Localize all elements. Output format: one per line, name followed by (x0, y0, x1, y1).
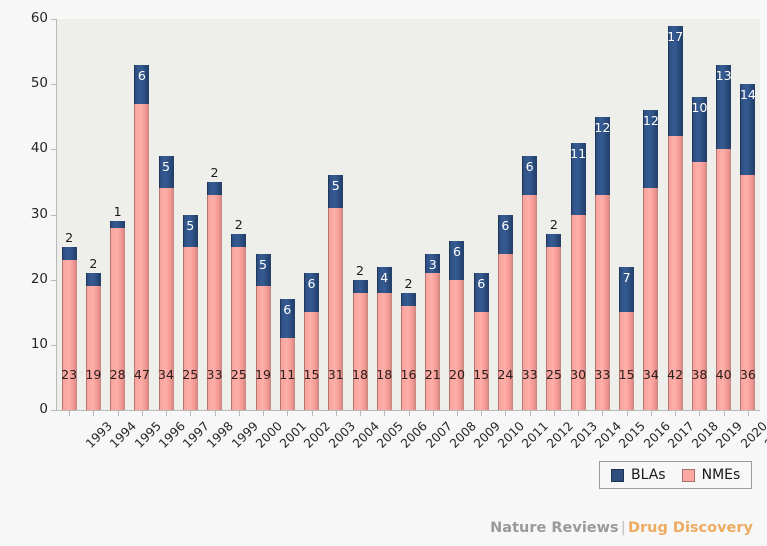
bar-value-label-bla: 2 (235, 219, 243, 232)
bar-value-label-nme: 33 (207, 369, 223, 382)
bar-segment-bla[interactable]: 1 (110, 221, 125, 228)
bar-stack[interactable]: 156 (474, 273, 489, 410)
bar-value-label-bla: 3 (429, 259, 437, 272)
x-tick-label: 2018 (689, 419, 721, 451)
bar-stack[interactable]: 156 (304, 273, 319, 410)
bar-stack[interactable]: 182 (353, 280, 368, 410)
bar-value-label-bla: 13 (716, 70, 732, 83)
bar-segment-nme[interactable]: 25 (183, 247, 198, 410)
bar-value-label-nme: 19 (85, 369, 101, 382)
bar-value-label-nme: 23 (61, 369, 77, 382)
bar-value-label-nme: 34 (643, 369, 659, 382)
bar-segment-nme[interactable]: 31 (328, 208, 343, 410)
bar-segment-bla[interactable]: 6 (304, 273, 319, 312)
x-tick-label: 2012 (544, 419, 576, 451)
bar-value-label-nme: 24 (497, 369, 513, 382)
bar-value-label-nme: 18 (352, 369, 368, 382)
bar-value-label-bla: 5 (186, 220, 194, 233)
bar-segment-nme[interactable]: 28 (110, 228, 125, 410)
bar-segment-bla[interactable]: 12 (595, 117, 610, 195)
bar-value-label-nme: 20 (449, 369, 465, 382)
x-tick-label: 2006 (398, 419, 430, 451)
bar-value-label-nme: 18 (376, 369, 392, 382)
bar-stack[interactable]: 315 (328, 175, 343, 410)
bar-value-label-nme: 42 (667, 369, 683, 382)
x-axis-tick (481, 411, 482, 416)
x-axis-tick (166, 411, 167, 416)
y-tick-mark (51, 149, 57, 150)
bar-segment-bla[interactable]: 13 (716, 65, 731, 150)
bar-segment-bla[interactable]: 12 (643, 110, 658, 188)
y-tick-mark (51, 345, 57, 346)
bar-segment-nme[interactable]: 40 (716, 149, 731, 410)
y-tick-mark (51, 410, 57, 411)
bar-segment-nme[interactable]: 38 (692, 162, 707, 410)
bar-segment-nme[interactable]: 20 (449, 280, 464, 410)
bar-value-label-bla: 11 (570, 148, 586, 161)
y-axis-tick: 50 (0, 84, 57, 85)
bar-stack[interactable]: 246 (498, 215, 513, 411)
y-tick-label: 30 (31, 206, 48, 222)
bar-stack[interactable]: 252 (546, 234, 561, 410)
bar-stack[interactable]: 213 (425, 254, 440, 410)
chart-legend[interactable]: BLAs NMEs (599, 461, 752, 489)
bar-stack[interactable]: 336 (522, 156, 537, 410)
bar-value-label-bla: 2 (65, 232, 73, 245)
x-tick-label: 2020 (738, 419, 767, 451)
bar-value-label-bla: 4 (380, 272, 388, 285)
x-axis-tick (409, 411, 410, 416)
bar-segment-bla[interactable]: 4 (377, 267, 392, 293)
bar-value-label-bla: 2 (211, 167, 219, 180)
bar-stack[interactable]: 255 (183, 215, 198, 411)
x-axis-tick (215, 411, 216, 416)
x-axis-tick (312, 411, 313, 416)
x-axis-tick (69, 411, 70, 416)
bar-stack[interactable]: 192 (86, 273, 101, 410)
bar-segment-nme[interactable]: 24 (498, 254, 513, 410)
bar-value-label-bla: 12 (594, 122, 610, 135)
bar-value-label-nme: 15 (473, 369, 489, 382)
bar-value-label-bla: 10 (691, 102, 707, 115)
bar-stack[interactable]: 162 (401, 293, 416, 410)
y-tick-label: 20 (31, 271, 48, 287)
legend-swatch-blas (611, 469, 624, 482)
bar-value-label-nme: 38 (691, 369, 707, 382)
x-tick-label: 2003 (326, 419, 358, 451)
x-tick-label: 2016 (641, 419, 673, 451)
bar-segment-bla[interactable]: 2 (231, 234, 246, 247)
x-axis-tick (118, 411, 119, 416)
bar-segment-bla[interactable]: 14 (740, 84, 755, 175)
x-tick-label: 2004 (350, 419, 382, 451)
bar-segment-nme[interactable]: 15 (619, 312, 634, 410)
x-tick-label: 1999 (229, 419, 261, 451)
bar-segment-nme[interactable]: 33 (207, 195, 222, 410)
x-axis-tick (433, 411, 434, 416)
bar-stack[interactable]: 4217 (668, 26, 683, 410)
x-axis-tick (748, 411, 749, 416)
bar-value-label-bla: 2 (356, 265, 364, 278)
bar-stack[interactable]: 232 (62, 247, 77, 410)
bar-segment-nme[interactable]: 25 (546, 247, 561, 410)
bar-segment-bla[interactable]: 11 (571, 143, 586, 215)
x-tick-label: 2014 (592, 419, 624, 451)
bar-segment-bla[interactable]: 10 (692, 97, 707, 162)
bar-segment-nme[interactable]: 36 (740, 175, 755, 410)
bar-value-label-bla: 5 (259, 259, 267, 272)
x-axis-tick (239, 411, 240, 416)
bar-segment-bla[interactable]: 6 (522, 156, 537, 195)
bar-segment-bla[interactable]: 5 (183, 215, 198, 248)
x-tick-label: 2005 (374, 419, 406, 451)
bar-stack[interactable]: 345 (159, 156, 174, 410)
bar-value-label-nme: 33 (594, 369, 610, 382)
bar-segment-bla[interactable]: 17 (668, 26, 683, 137)
x-axis-tick (287, 411, 288, 416)
credit-brand: Nature Reviews (490, 520, 619, 536)
x-axis-tick (530, 411, 531, 416)
bar-value-label-nme: 25 (182, 369, 198, 382)
bar-segment-nme[interactable]: 15 (304, 312, 319, 410)
bar-value-label-bla: 6 (526, 161, 534, 174)
y-axis-tick: 40 (0, 149, 57, 150)
y-axis-tick: 60 (0, 19, 57, 20)
bar-value-label-nme: 16 (400, 369, 416, 382)
x-tick-label: 2008 (447, 419, 479, 451)
x-tick-label: 2000 (253, 419, 285, 451)
bar-segment-bla[interactable]: 2 (353, 280, 368, 293)
bar-segment-nme[interactable]: 18 (353, 293, 368, 410)
bar-stack[interactable]: 184 (377, 267, 392, 410)
bar-stack[interactable]: 157 (619, 267, 634, 410)
y-tick-mark (51, 19, 57, 20)
x-axis-tick (602, 411, 603, 416)
x-tick-label: 2013 (568, 419, 600, 451)
bar-segment-bla[interactable]: 3 (425, 254, 440, 274)
bar-value-label-bla: 5 (332, 180, 340, 193)
bar-segment-bla[interactable]: 6 (280, 299, 295, 338)
bar-value-label-bla: 17 (667, 31, 683, 44)
x-tick-label: 2002 (301, 419, 333, 451)
bar-segment-bla[interactable]: 7 (619, 267, 634, 313)
bar-segment-nme[interactable]: 33 (595, 195, 610, 410)
x-axis-tick (724, 411, 725, 416)
bar-value-label-bla: 6 (283, 304, 291, 317)
bar-value-label-bla: 5 (162, 161, 170, 174)
x-axis-tick (675, 411, 676, 416)
bar-value-label-nme: 28 (110, 369, 126, 382)
x-axis-tick (627, 411, 628, 416)
bar-segment-nme[interactable]: 33 (522, 195, 537, 410)
bar-segment-nme[interactable]: 19 (256, 286, 271, 410)
bar-segment-bla[interactable]: 6 (134, 65, 149, 104)
bar-segment-bla[interactable]: 5 (256, 254, 271, 287)
legend-entry-nmes[interactable]: NMEs (682, 467, 741, 483)
bar-value-label-nme: 31 (328, 369, 344, 382)
credit-journal: Drug Discovery (628, 520, 753, 536)
bar-value-label-bla: 6 (138, 70, 146, 83)
bar-stack[interactable]: 3011 (571, 143, 586, 410)
bar-value-label-nme: 40 (716, 369, 732, 382)
bar-segment-bla[interactable]: 2 (86, 273, 101, 286)
bar-value-label-bla: 12 (643, 115, 659, 128)
bar-value-label-bla: 1 (114, 206, 122, 219)
y-tick-label: 0 (39, 401, 48, 417)
bar-segment-nme[interactable]: 15 (474, 312, 489, 410)
bar-stack[interactable]: 3810 (692, 97, 707, 410)
bar-stack[interactable]: 476 (134, 65, 149, 410)
bar-stack[interactable]: 3614 (740, 84, 755, 410)
bar-value-label-bla: 2 (89, 258, 97, 271)
x-axis-tick (190, 411, 191, 416)
x-axis-tick (142, 411, 143, 416)
x-axis-tick (336, 411, 337, 416)
bar-segment-bla[interactable]: 2 (62, 247, 77, 260)
x-axis-tick (554, 411, 555, 416)
bar-value-label-nme: 36 (740, 369, 756, 382)
y-axis-tick: 10 (0, 345, 57, 346)
y-tick-mark (51, 84, 57, 85)
x-axis-tick (360, 411, 361, 416)
bar-segment-bla[interactable]: 5 (328, 175, 343, 208)
legend-label-nmes: NMEs (702, 467, 741, 483)
x-tick-label: 1997 (180, 419, 212, 451)
bar-value-label-nme: 30 (570, 369, 586, 382)
bar-segment-bla[interactable]: 5 (159, 156, 174, 189)
bar-segment-nme[interactable]: 25 (231, 247, 246, 410)
x-axis-tick (457, 411, 458, 416)
x-tick-label: 1994 (107, 419, 139, 451)
x-axis-tick (505, 411, 506, 416)
bar-stack[interactable]: 4013 (716, 65, 731, 410)
bar-value-label-nme: 33 (522, 369, 538, 382)
bar-stack[interactable]: 3312 (595, 117, 610, 410)
y-tick-label: 60 (31, 10, 48, 26)
bar-value-label-bla: 2 (550, 219, 558, 232)
bar-segment-nme[interactable]: 11 (280, 338, 295, 410)
bar-segment-bla[interactable]: 6 (449, 241, 464, 280)
bar-stack[interactable]: 332 (207, 182, 222, 410)
bar-segment-bla[interactable]: 2 (207, 182, 222, 195)
bar-stack[interactable]: 116 (280, 299, 295, 410)
x-tick-label: 2009 (471, 419, 503, 451)
publication-credit: Nature Reviews|Drug Discovery (490, 520, 753, 536)
bar-stack[interactable]: 3412 (643, 110, 658, 410)
bar-stack[interactable]: 252 (231, 234, 246, 410)
legend-entry-blas[interactable]: BLAs (611, 467, 666, 483)
bar-value-label-bla: 6 (477, 278, 485, 291)
bar-value-label-nme: 21 (425, 369, 441, 382)
bar-value-label-bla: 6 (453, 246, 461, 259)
bar-stack[interactable]: 206 (449, 241, 464, 410)
bar-value-label-bla: 7 (623, 272, 631, 285)
bar-value-label-nme: 47 (134, 369, 150, 382)
x-axis-tick (93, 411, 94, 416)
bar-stack[interactable]: 281 (110, 221, 125, 410)
bar-value-label-nme: 15 (304, 369, 320, 382)
y-tick-label: 50 (31, 75, 48, 91)
bar-segment-nme[interactable]: 47 (134, 104, 149, 410)
x-tick-label: 2001 (277, 419, 309, 451)
bar-segment-bla[interactable]: 2 (546, 234, 561, 247)
bar-segment-nme[interactable]: 23 (62, 260, 77, 410)
bar-stack[interactable]: 195 (256, 254, 271, 410)
y-axis-tick: 30 (0, 215, 57, 216)
bar-segment-nme[interactable]: 19 (86, 286, 101, 410)
x-tick-label: 1996 (156, 419, 188, 451)
bar-segment-nme[interactable]: 18 (377, 293, 392, 410)
bar-segment-bla[interactable]: 6 (474, 273, 489, 312)
bar-segment-bla[interactable]: 6 (498, 215, 513, 254)
x-tick-label: 2007 (423, 419, 455, 451)
legend-swatch-nmes (682, 469, 695, 482)
bar-value-label-nme: 11 (279, 369, 295, 382)
x-tick-label: 2015 (617, 419, 649, 451)
bar-value-label-nme: 15 (619, 369, 635, 382)
x-tick-label: 1998 (204, 419, 236, 451)
x-axis-tick (578, 411, 579, 416)
x-tick-label: 1995 (132, 419, 164, 451)
bar-value-label-nme: 19 (255, 369, 271, 382)
bar-value-label-nme: 25 (231, 369, 247, 382)
y-tick-label: 10 (31, 336, 48, 352)
y-axis-tick: 20 (0, 280, 57, 281)
y-axis-tick: 0 (0, 410, 57, 411)
x-axis-tick (651, 411, 652, 416)
bar-segment-nme[interactable]: 16 (401, 306, 416, 410)
bar-value-label-nme: 34 (158, 369, 174, 382)
bar-segment-nme[interactable]: 34 (159, 188, 174, 410)
bar-segment-nme[interactable]: 34 (643, 188, 658, 410)
x-axis-tick (263, 411, 264, 416)
bar-value-label-bla: 2 (404, 278, 412, 291)
x-tick-label: 1993 (83, 419, 115, 451)
x-tick-label: 2010 (495, 419, 527, 451)
y-tick-label: 40 (31, 140, 48, 156)
bar-segment-nme[interactable]: 21 (425, 273, 440, 410)
y-tick-mark (51, 215, 57, 216)
x-tick-label: 2019 (713, 419, 745, 451)
credit-separator: | (619, 520, 628, 536)
legend-label-blas: BLAs (631, 467, 666, 483)
x-tick-label: 2017 (665, 419, 697, 451)
x-axis-tick (699, 411, 700, 416)
bar-value-label-bla: 6 (308, 278, 316, 291)
bar-segment-bla[interactable]: 2 (401, 293, 416, 306)
y-tick-mark (51, 280, 57, 281)
chart-figure: Number of drugs approved 0102030405060 1… (0, 0, 767, 546)
x-tick-label: 2011 (520, 419, 552, 451)
bar-value-label-bla: 6 (501, 220, 509, 233)
bar-value-label-bla: 14 (740, 89, 756, 102)
bar-value-label-nme: 25 (546, 369, 562, 382)
bar-segment-nme[interactable]: 42 (668, 136, 683, 410)
x-axis-tick (384, 411, 385, 416)
bar-segment-nme[interactable]: 30 (571, 215, 586, 411)
